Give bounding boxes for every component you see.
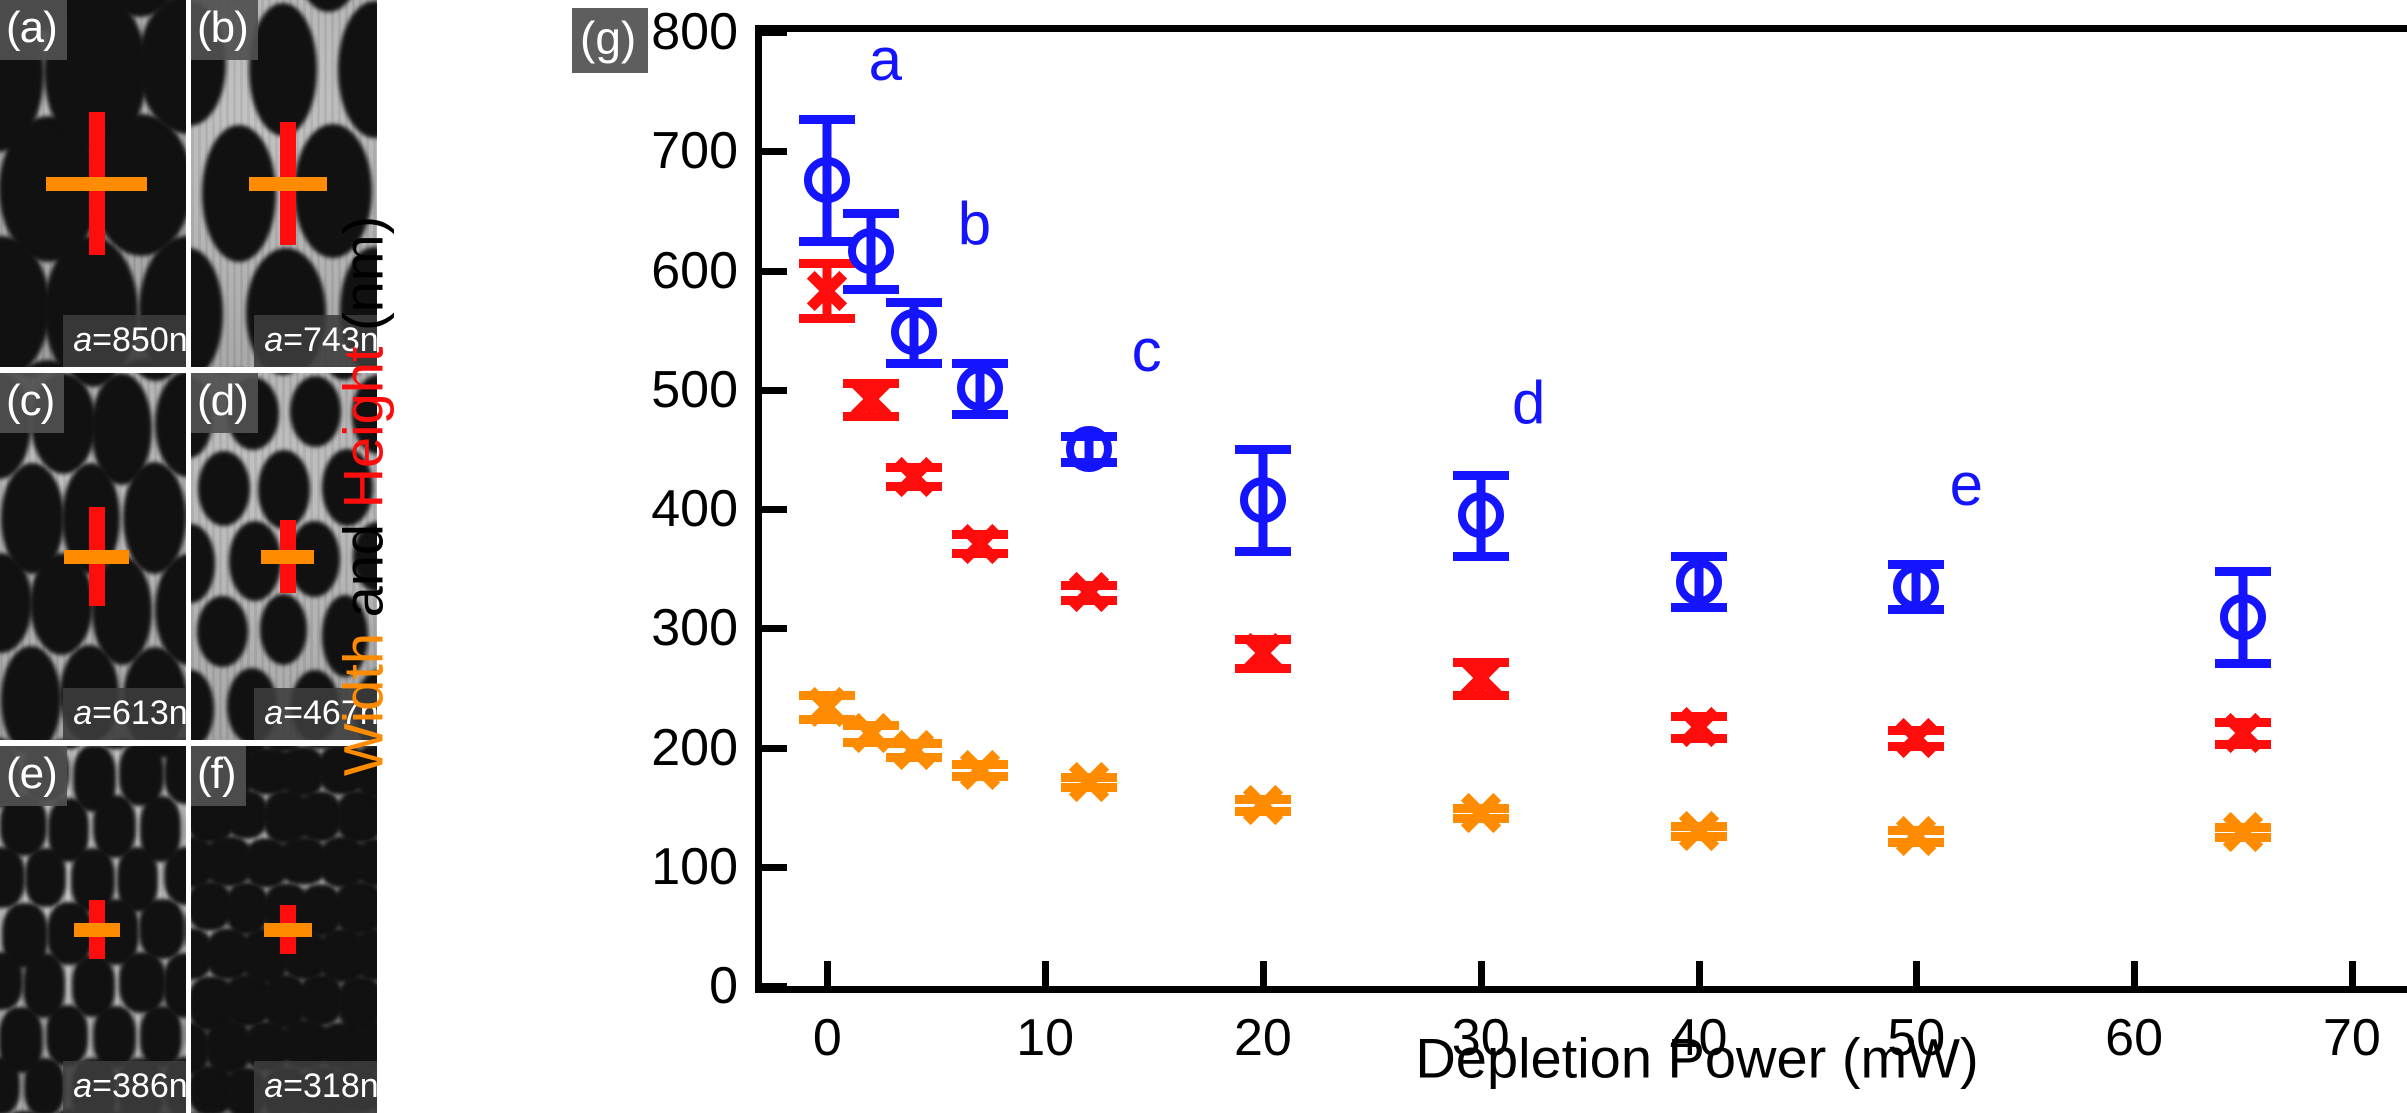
data-point-aspect-ratio [1049,409,1129,489]
error-bar-cap [1235,445,1291,454]
width-measure-bar [46,177,147,191]
sem-image-e: (e)a=386nm [0,746,186,1113]
y-axis-tick-label-left: 0 [709,956,738,1016]
marker-x [894,460,934,494]
sem-pore [163,953,186,1018]
annotation-c: c [1132,321,1162,381]
sem-pore [197,596,247,667]
sem-pore [24,1058,65,1113]
y-axis-title-segment: Width [332,633,395,776]
marker-x [2223,815,2263,849]
data-point-width [1441,773,1521,853]
sem-panel-label: (b) [191,0,258,60]
error-bar-cap [1453,552,1509,561]
marker-open-circle [1240,477,1286,523]
chart-panel-g: (g) 010020030040050060070080011.522.5010… [377,0,2407,1113]
data-point-width [1876,796,1956,876]
x-axis-tick [1913,961,1920,987]
y-axis-title-segment: (nm) [332,216,395,347]
marker-x [1069,575,1109,609]
error-bar-cap [2215,567,2271,576]
marker-x [960,753,1000,787]
y-axis-title-segment: Height [332,347,395,509]
data-point-height [1223,613,1303,693]
width-measure-bar [264,923,312,937]
sem-pore [119,952,166,1013]
sem-image-c: (c)a=613nm [0,373,186,740]
sem-lattice-caption: a=318nm [254,1061,377,1113]
x-axis-tick-label: 0 [813,1008,842,1068]
sem-image-a: (a)a=850nm [0,0,186,367]
y-axis-tick-left [761,268,787,275]
marker-x [851,382,891,416]
x-axis-tick [2131,961,2138,987]
y-axis-tick-label-left: 600 [651,241,738,301]
marker-x [1069,765,1109,799]
y-axis-tick-left [761,745,787,752]
data-point-aspect-ratio [1659,542,1739,622]
y-axis-tick-label-left: 400 [651,479,738,539]
data-point-aspect-ratio [787,140,867,220]
sem-pore [25,848,66,906]
y-axis-tick-label-left: 200 [651,718,738,778]
sem-pore [202,125,276,262]
sem-lattice-caption: a=386nm [63,1061,186,1113]
data-point-width [1659,791,1739,871]
x-axis-title: Depletion Power (mW) [1415,1026,1978,1091]
error-bar-cap [1453,471,1509,480]
marker-x [894,733,934,767]
x-axis-tick [1478,961,1485,987]
sem-pore [139,899,185,959]
marker-open-circle [2220,594,2266,640]
y-axis-tick-left [761,29,787,36]
data-point-height [940,504,1020,584]
error-bar-cap [2215,659,2271,668]
data-point-aspect-ratio [940,348,1020,428]
data-point-aspect-ratio [1441,475,1521,555]
y-axis-tick-left [761,148,787,155]
x-axis-tick-label: 70 [2323,1008,2381,1068]
marker-x [1679,814,1719,848]
data-point-aspect-ratio [2203,577,2283,657]
x-axis-tick-label: 60 [2105,1008,2163,1068]
data-point-aspect-ratio [831,211,911,291]
x-axis-tick [824,961,831,987]
sem-panel-label: (c) [0,373,64,433]
y-axis-tick-label-left: 300 [651,598,738,658]
sem-pore [334,881,377,935]
x-axis-tick-label: 20 [1234,1008,1292,1068]
sem-pore [249,3,317,136]
error-bar-cap [799,115,855,124]
x-axis-tick [1042,961,1049,987]
marker-open-circle [1893,564,1939,610]
data-point-height [1049,552,1129,632]
marker-x [2223,716,2263,750]
annotation-e: e [1950,455,1983,515]
marker-x [1243,636,1283,670]
data-point-width [940,730,1020,810]
error-bar-cap [886,298,942,307]
width-measure-bar [64,550,129,564]
data-point-height [1659,687,1739,767]
marker-x [1679,710,1719,744]
marker-x [1243,788,1283,822]
marker-open-circle [891,309,937,355]
y-axis-tick-left [761,506,787,513]
data-point-aspect-ratio [1876,547,1956,627]
y-axis-tick-label-left: 500 [651,360,738,420]
marker-open-circle [804,157,850,203]
annotation-d: d [1512,373,1545,433]
marker-open-circle [1066,426,1112,472]
marker-x [1461,796,1501,830]
sem-panel-label: (d) [191,373,258,433]
sem-lattice-caption: a=613nm [63,688,186,741]
y-axis-tick-label-left: 100 [651,837,738,897]
data-point-width [1223,765,1303,845]
y-axis-tick-left [761,983,787,990]
marker-open-circle [1458,492,1504,538]
sem-lattice-caption: a=850nm [63,315,186,368]
x-axis-tick [1696,961,1703,987]
y-axis-title-segment: and [332,508,395,633]
y-axis-title-left: Width and Height (nm) [331,216,396,776]
sem-pore [258,450,310,528]
x-axis-tick [2349,961,2356,987]
marker-x [1896,819,1936,853]
data-point-width [2203,792,2283,872]
sem-panel-label: (f) [191,746,246,806]
x-axis-tick [1260,961,1267,987]
data-point-height [1441,638,1521,718]
y-axis-tick-label-left: 700 [651,121,738,181]
y-axis-tick-label-left: 800 [651,2,738,62]
sem-pore [1,646,61,740]
sem-panel-label: (e) [0,746,67,806]
y-axis-tick-left [761,864,787,871]
sem-panel-label: (a) [0,0,67,60]
error-bar-cap [843,209,899,218]
panel-label-g: (g) [572,8,648,73]
sem-image-grid: (a)a=850nm(b)a=743nm(c)a=613nm(d)a=467nm… [0,0,377,1113]
data-point-width [1049,742,1129,822]
annotation-a: a [869,30,902,90]
marker-x [1461,661,1501,695]
y-axis-tick-left [761,387,787,394]
plot-area: 010020030040050060070080011.522.50102030… [762,32,2407,986]
data-point-height [1876,698,1956,778]
annotation-b: b [958,194,991,254]
x-axis-tick-label: 10 [1016,1008,1074,1068]
error-bar-cap [799,314,855,323]
marker-x [960,527,1000,561]
width-measure-bar [261,550,314,564]
marker-open-circle [957,365,1003,411]
error-bar-cap [1235,547,1291,556]
data-point-aspect-ratio [1223,460,1303,540]
sem-pore [353,928,377,981]
width-measure-bar [249,177,327,191]
data-point-height [2203,693,2283,773]
marker-open-circle [848,228,894,274]
marker-open-circle [1676,559,1722,605]
sem-pore [198,451,250,527]
marker-x [1896,721,1936,755]
width-measure-bar [74,923,120,937]
y-axis-tick-left [761,625,787,632]
sem-image-f: (f)a=318nm [191,746,377,1113]
error-bar-cap [886,359,942,368]
